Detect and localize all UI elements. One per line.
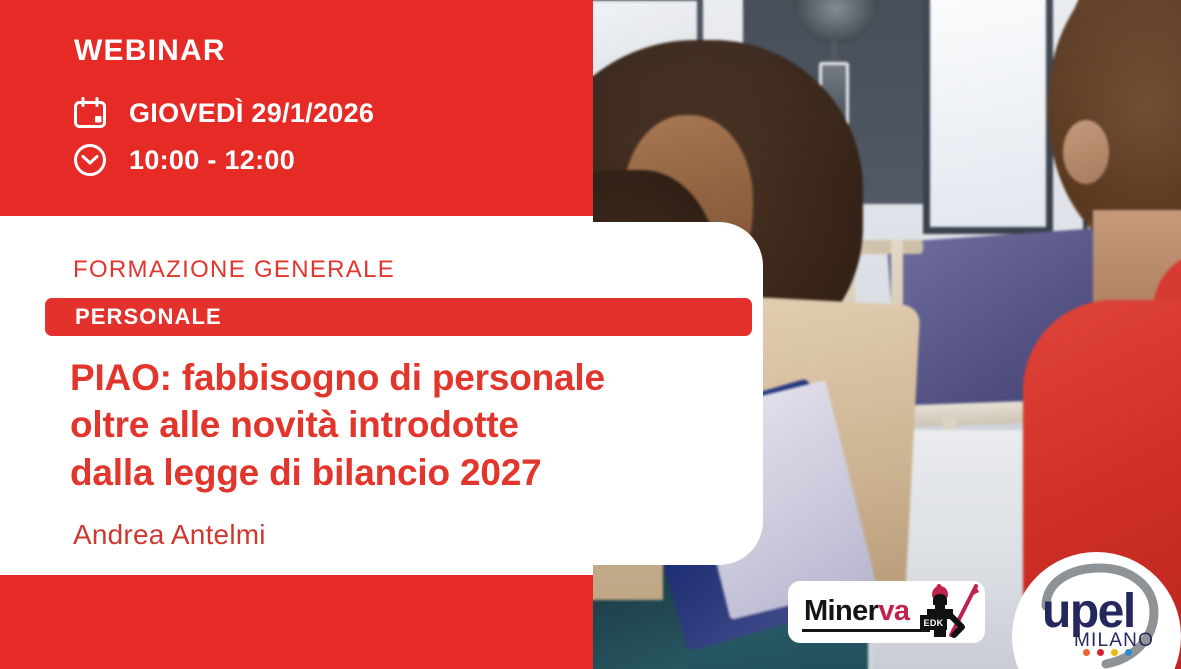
red-footer-panel [0, 575, 593, 669]
upel-wordmark: upel [1042, 588, 1135, 636]
webinar-time: 10:00 - 12:00 [129, 145, 295, 176]
upel-dots [1083, 649, 1132, 656]
webinar-kicker: WEBINAR [74, 34, 226, 68]
calendar-icon [72, 95, 108, 131]
title-line-3: dalla legge di bilancio 2027 [70, 449, 710, 496]
minerva-word-accent: va [878, 595, 909, 627]
minerva-underline [802, 629, 930, 632]
minerva-warrior-icon [918, 583, 982, 641]
title-line-2: oltre alle novità introdotte [70, 401, 710, 448]
topic-badge: PERSONALE [45, 298, 752, 336]
webinar-banner: WEBINAR GIOVEDÌ 29/1/2026 10:00 - 12:00 … [0, 0, 1181, 669]
minerva-logo: Minerva EDK [788, 581, 985, 643]
course-category: FORMAZIONE GENERALE [73, 256, 395, 284]
minerva-edk-mark: EDK [920, 615, 947, 630]
upel-dot-4 [1125, 649, 1132, 656]
time-row: 10:00 - 12:00 [72, 142, 295, 178]
upel-dot-3 [1111, 649, 1118, 656]
webinar-date: GIOVEDÌ 29/1/2026 [129, 98, 374, 129]
webinar-title: PIAO: fabbisogno di personale oltre alle… [70, 354, 710, 496]
topic-badge-label: PERSONALE [75, 304, 222, 330]
content-card: FORMAZIONE GENERALE PERSONALE PIAO: fabb… [0, 222, 763, 565]
clock-icon [72, 142, 108, 178]
minerva-word-dark: Miner [804, 595, 878, 627]
upel-dot-2 [1097, 649, 1104, 656]
title-line-1: PIAO: fabbisogno di personale [70, 354, 710, 401]
upel-logo: upel MILANO [1012, 552, 1181, 669]
speaker-name: Andrea Antelmi [73, 519, 266, 551]
date-row: GIOVEDÌ 29/1/2026 [72, 95, 374, 131]
upel-dot-1 [1083, 649, 1090, 656]
minerva-wordmark: Minerva [804, 595, 909, 628]
